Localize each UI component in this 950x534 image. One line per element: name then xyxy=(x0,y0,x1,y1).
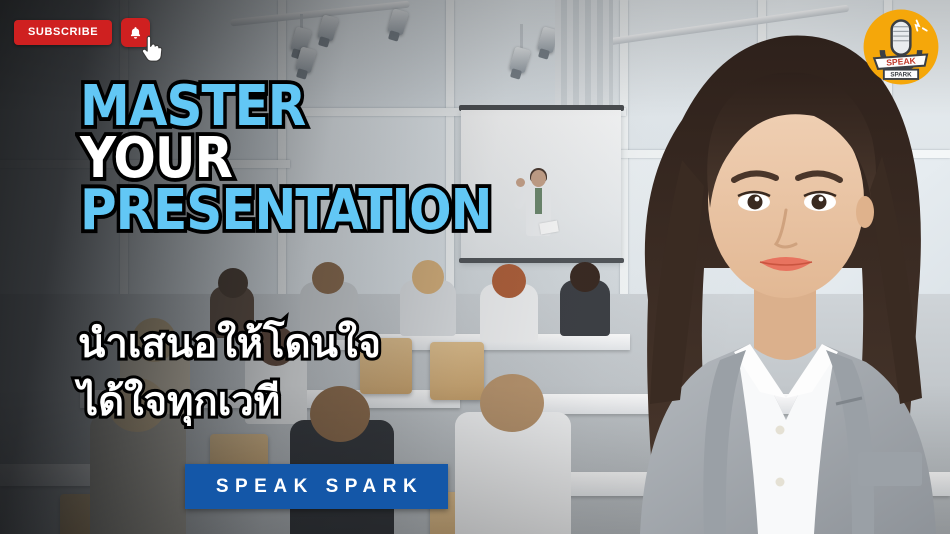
bell-icon xyxy=(128,25,143,41)
subheadline-line-1: นำเสนอให้โดนใจ xyxy=(78,324,381,364)
logo-ribbon-top: SPEAK xyxy=(886,55,917,67)
headline-line-2: YOUR xyxy=(80,132,491,184)
logo-ribbon-bottom: SPARK xyxy=(890,72,912,79)
speak-spark-logo[interactable]: SPEAK SPARK xyxy=(862,8,940,86)
headline-block: MASTER YOUR PRESENTATION xyxy=(80,80,491,236)
thumbnail-canvas: SUBSCRIBE MASTER YOUR PRESENTATION นำเสน… xyxy=(0,0,950,534)
headline-line-3: PRESENTATION xyxy=(80,184,491,236)
subscribe-button[interactable]: SUBSCRIBE xyxy=(14,20,112,45)
headline-line-1: MASTER xyxy=(80,80,491,132)
brand-banner-label: SPEAK SPARK xyxy=(210,476,423,498)
subscribe-cluster[interactable]: SUBSCRIBE xyxy=(14,18,150,47)
brand-banner: SPEAK SPARK xyxy=(185,464,448,509)
subheadline-line-2: ได้ใจทุกเวที xyxy=(78,382,280,422)
notification-bell-button[interactable] xyxy=(121,18,150,47)
